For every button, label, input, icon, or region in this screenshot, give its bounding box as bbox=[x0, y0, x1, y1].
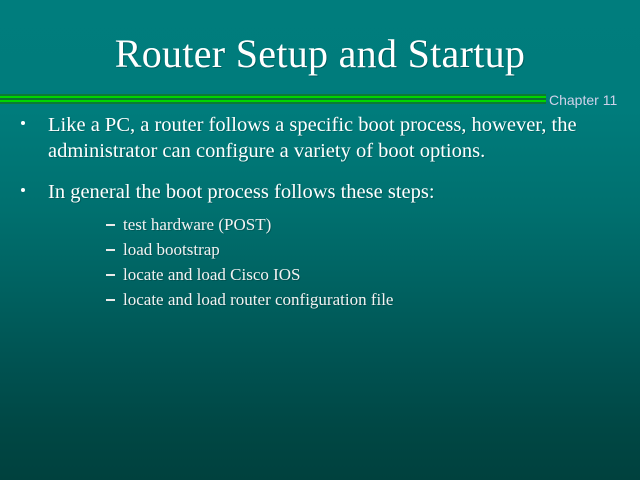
list-item: locate and load Cisco IOS bbox=[48, 262, 604, 287]
chapter-label: Chapter 11 bbox=[549, 91, 617, 109]
divider-band bbox=[0, 94, 546, 105]
dot-bullet-icon bbox=[21, 188, 25, 192]
sub-bullet-text: locate and load router configuration fil… bbox=[123, 290, 393, 309]
dash-bullet-icon bbox=[106, 224, 115, 226]
divider-stripe-dark-bottom bbox=[0, 102, 546, 104]
list-item: locate and load router configuration fil… bbox=[48, 287, 604, 312]
sub-bullet-text: load bootstrap bbox=[123, 240, 220, 259]
page-title: Router Setup and Startup bbox=[0, 30, 640, 78]
list-item: In general the boot process follows thes… bbox=[0, 179, 640, 312]
dash-bullet-icon bbox=[106, 299, 115, 301]
slide-body: Like a PC, a router follows a specific b… bbox=[0, 112, 640, 312]
bullet-text: Like a PC, a router follows a specific b… bbox=[48, 114, 577, 162]
sub-bullet-list: test hardware (POST) load bootstrap loca… bbox=[48, 212, 604, 312]
sub-bullet-text: test hardware (POST) bbox=[123, 215, 271, 234]
title-block: Router Setup and Startup bbox=[0, 30, 640, 78]
list-item: Like a PC, a router follows a specific b… bbox=[0, 112, 640, 164]
dash-bullet-icon bbox=[106, 274, 115, 276]
list-item: test hardware (POST) bbox=[48, 212, 604, 237]
sub-bullet-text: locate and load Cisco IOS bbox=[123, 265, 301, 284]
presentation-slide: Router Setup and Startup Chapter 11 Like… bbox=[0, 0, 640, 480]
dash-bullet-icon bbox=[106, 249, 115, 251]
list-item: load bootstrap bbox=[48, 237, 604, 262]
bullet-text: In general the boot process follows thes… bbox=[48, 181, 435, 203]
dot-bullet-icon bbox=[21, 121, 25, 125]
